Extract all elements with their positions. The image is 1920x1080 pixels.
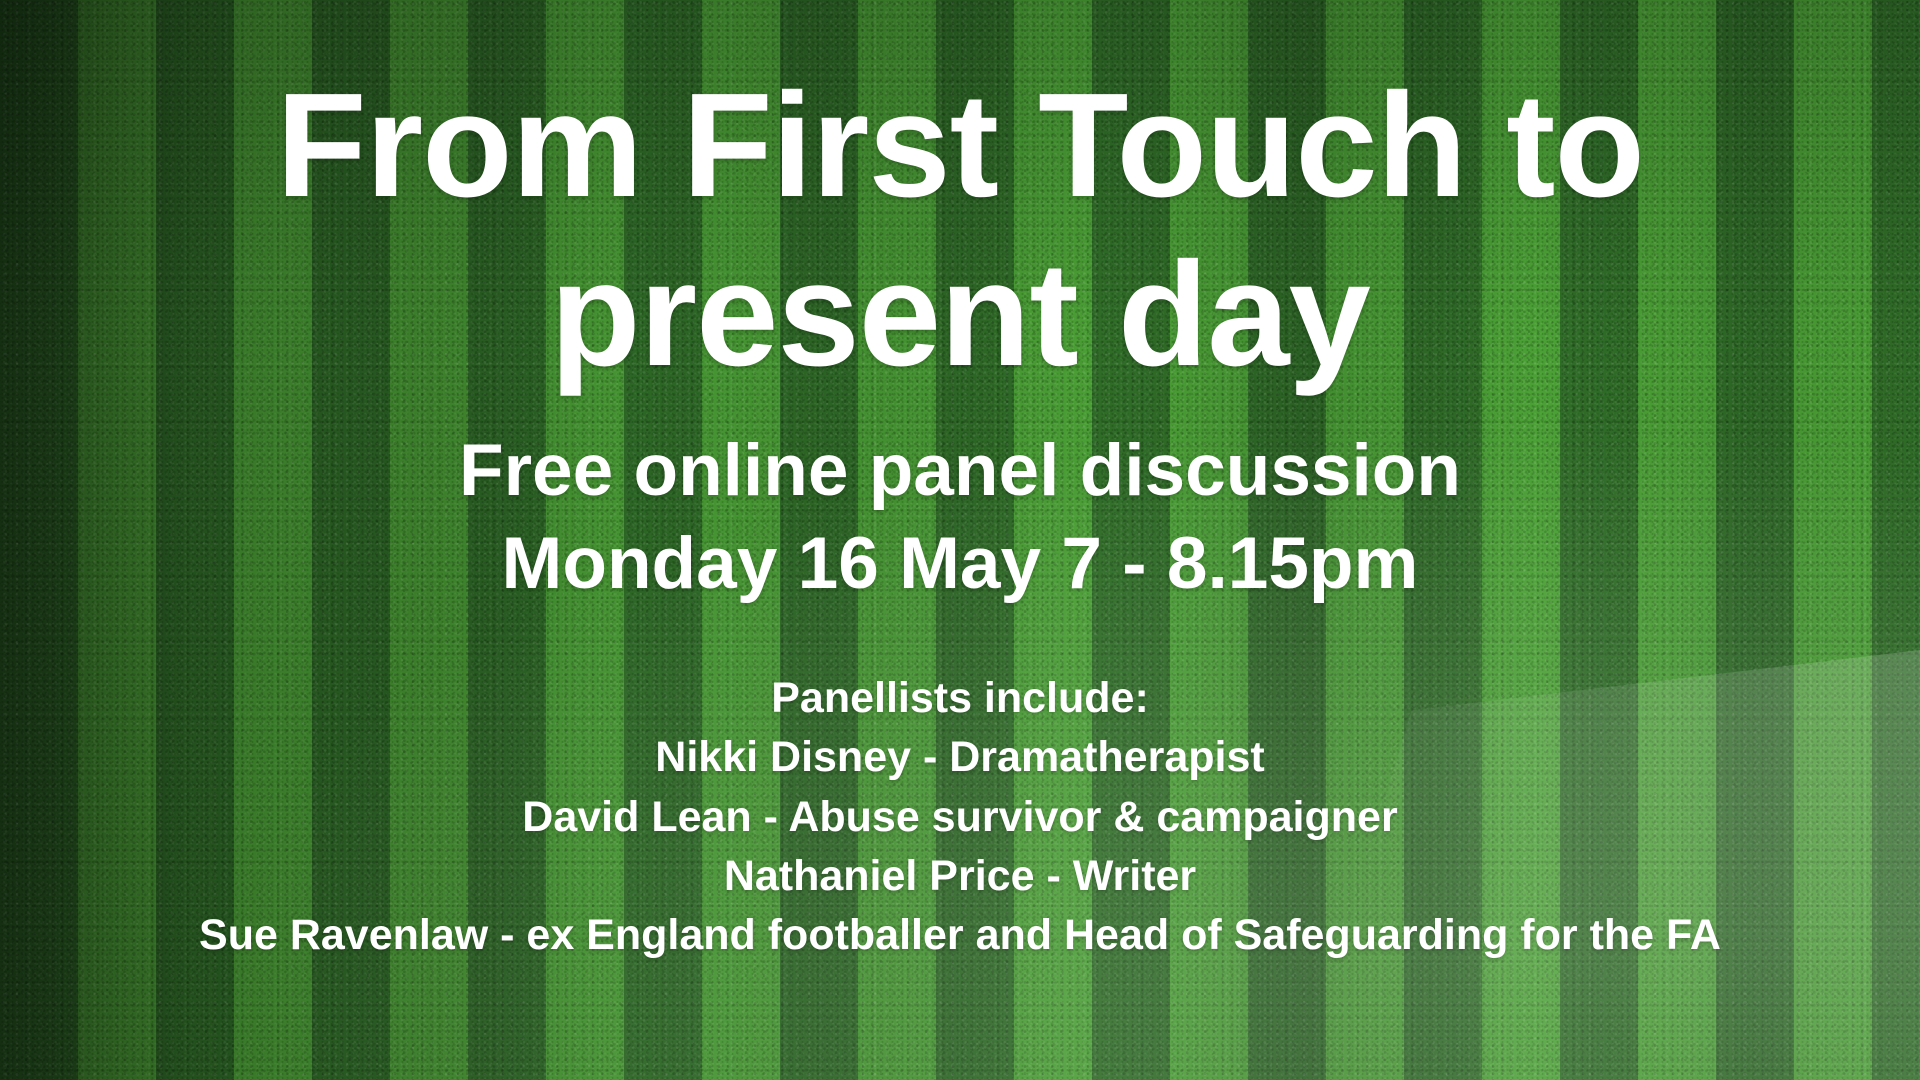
poster-content: From First Touch to present day Free onl… — [0, 0, 1920, 1080]
panellist-item: David Lean - Abuse survivor & campaigner — [522, 788, 1397, 847]
panellist-item: Sue Ravenlaw - ex England footballer and… — [199, 906, 1721, 965]
poster-title-line-1: From First Touch to — [210, 62, 1710, 231]
poster-title-line-2: present day — [210, 231, 1710, 400]
event-type-line: Free online panel discussion — [150, 425, 1770, 518]
poster-subtitle: Free online panel discussion Monday 16 M… — [150, 425, 1770, 610]
panellists-heading: Panellists include: — [771, 669, 1149, 728]
event-poster: From First Touch to present day Free onl… — [0, 0, 1920, 1080]
event-datetime-line: Monday 16 May 7 - 8.15pm — [150, 518, 1770, 611]
panellists-section: Panellists include: Nikki Disney - Drama… — [50, 669, 1870, 966]
panellist-item: Nikki Disney - Dramatherapist — [655, 728, 1264, 787]
poster-title: From First Touch to present day — [210, 62, 1710, 399]
panellist-item: Nathaniel Price - Writer — [724, 847, 1196, 906]
